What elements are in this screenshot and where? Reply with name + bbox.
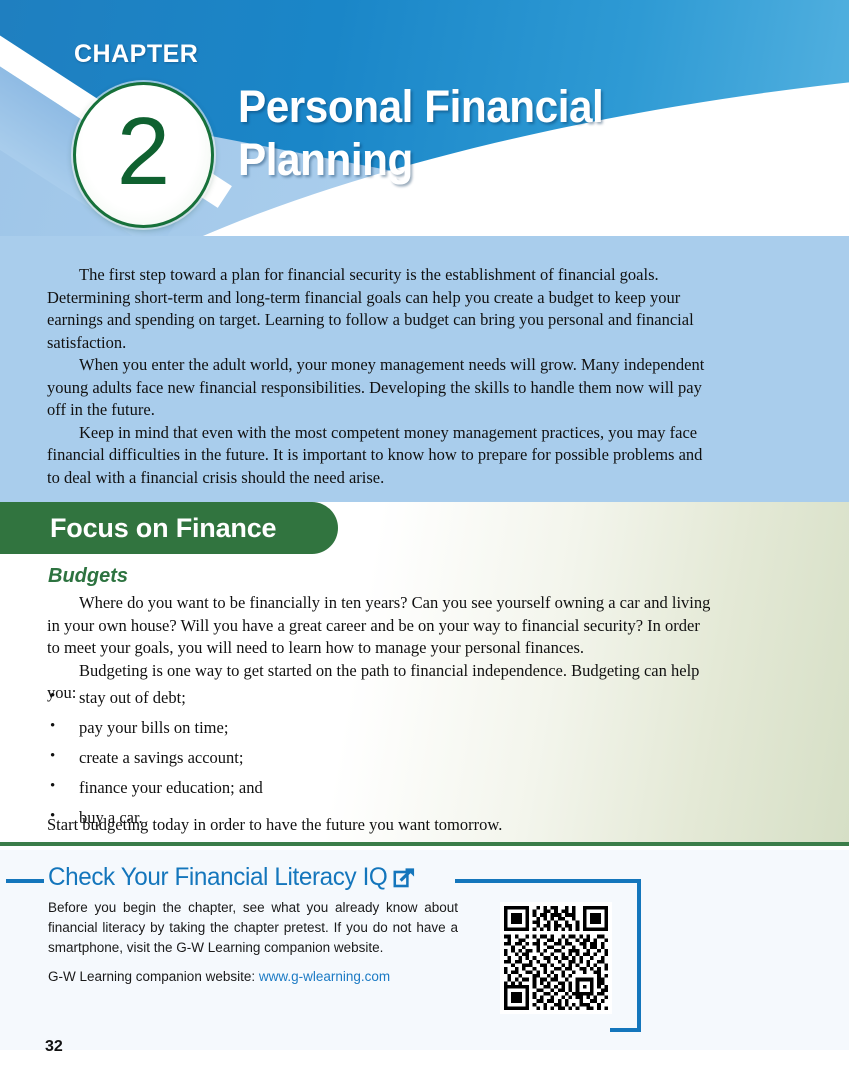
page-number: 32 [45,1038,63,1056]
financial-literacy-heading-label: Check Your Financial Literacy IQ [48,863,387,891]
intro-paragraph: When you enter the adult world, your mon… [47,354,707,422]
companion-website-link[interactable]: www.g-wlearning.com [259,969,390,984]
bracket-foot [610,1028,641,1032]
list-item: pay your bills on time; [47,718,712,737]
chapter-number-badge: 2 [73,82,214,228]
external-link-icon[interactable] [393,866,416,895]
list-item: stay out of debt; [47,688,712,707]
chapter-number: 2 [117,104,170,200]
focus-on-finance-tab: Focus on Finance [0,502,338,554]
focus-on-finance-title: Focus on Finance [50,513,276,544]
list-item: finance your education; and [47,778,712,797]
companion-website-line: G-W Learning companion website: www.g-wl… [48,967,468,986]
focus-closing-text: Start budgeting today in order to have t… [47,814,712,836]
bracket-vertical [637,879,641,1032]
chapter-intro-text: The first step toward a plan for financi… [47,264,707,489]
chapter-banner: CHAPTER 2 Personal Financial Planning [0,0,849,238]
chapter-label: CHAPTER [74,40,198,69]
page-title: Personal Financial Planning [238,80,652,186]
financial-literacy-iq-section: Check Your Financial Literacy IQ Before … [0,850,849,1050]
companion-website-label: G-W Learning companion website: [48,969,255,984]
intro-paragraph: Keep in mind that even with the most com… [47,422,707,490]
chapter-intro-section: The first step toward a plan for financi… [0,236,849,502]
financial-literacy-description: Before you begin the chapter, see what y… [48,898,458,958]
financial-literacy-heading: Check Your Financial Literacy IQ [48,863,416,895]
heading-rule-left [6,879,44,883]
qr-code[interactable] [500,902,612,1014]
focus-paragraph: Where do you want to be financially in t… [47,592,712,660]
qr-code-image [504,906,608,1010]
textbook-page: CHAPTER 2 Personal Financial Planning Th… [0,0,849,1087]
heading-rule-right [455,879,641,883]
list-item: create a savings account; [47,748,712,767]
focus-subheading: Budgets [48,565,128,588]
focus-on-finance-section: Focus on Finance Budgets Where do you wa… [0,502,849,846]
intro-paragraph: The first step toward a plan for financi… [47,264,707,354]
